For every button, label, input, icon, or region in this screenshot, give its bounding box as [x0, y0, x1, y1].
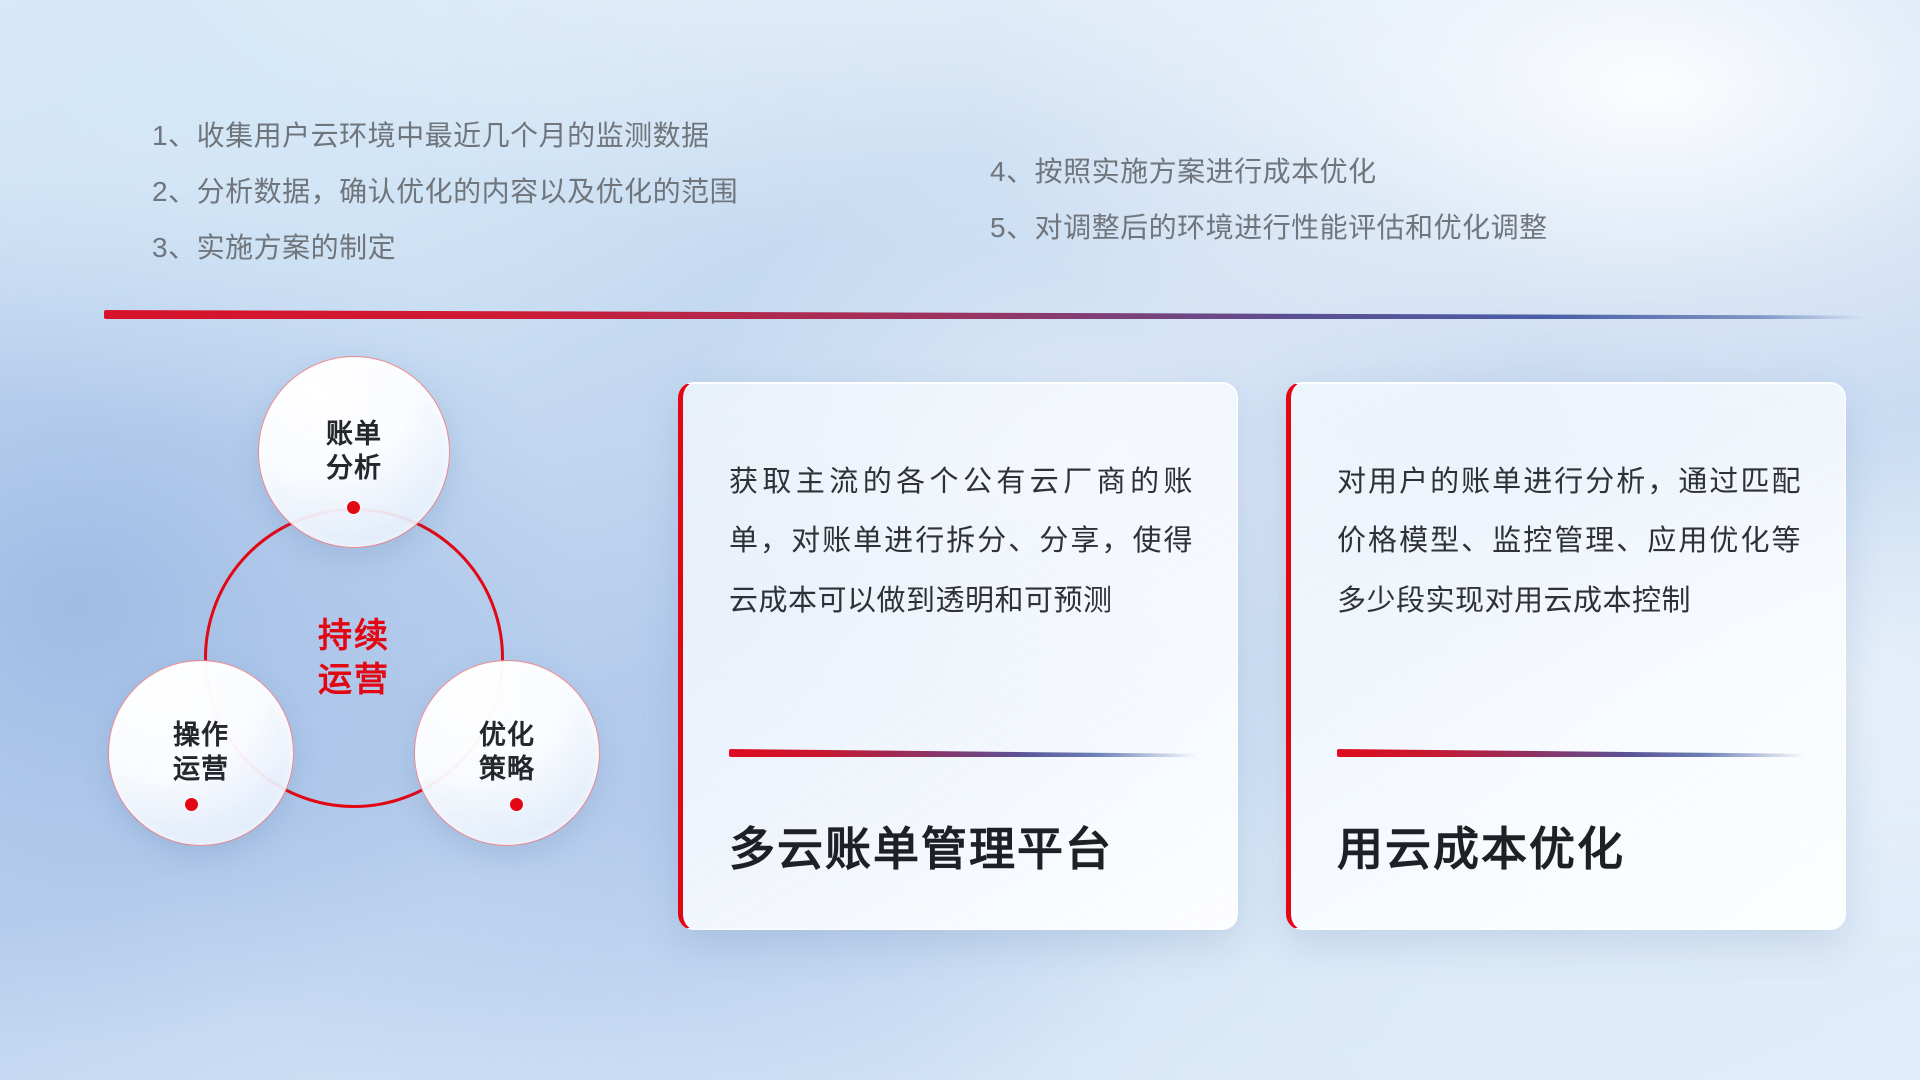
steps-list-left: 1、收集用户云环境中最近几个月的监测数据 2、分析数据，确认优化的内容以及优化的…: [152, 122, 738, 290]
steps-list-right: 4、按照实施方案进行成本优化 5、对调整后的环境进行性能评估和优化调整: [990, 158, 1548, 270]
continuous-operations-diagram: 持续 运营 账单 分析 操作 运营 优化 策略: [96, 348, 656, 948]
center-label-line-1: 持续: [318, 614, 390, 658]
node-dot-right-icon: [510, 798, 523, 811]
card-1-accent-rule: [729, 749, 1197, 757]
slide-canvas: 1、收集用户云环境中最近几个月的监测数据 2、分析数据，确认优化的内容以及优化的…: [0, 0, 1920, 1080]
card-2-title: 用云成本优化: [1337, 822, 1625, 877]
card-multi-cloud-billing-platform[interactable]: 获取主流的各个公有云厂商的账单，对账单进行拆分、分享，使得云成本可以做到透明和可…: [678, 382, 1238, 930]
step-item-3: 3、实施方案的制定: [152, 234, 738, 262]
section-divider: [104, 310, 1864, 319]
card-cloud-cost-optimization[interactable]: 对用户的账单进行分析，通过匹配价格模型、监控管理、应用优化等多少段实现对用云成本…: [1286, 382, 1846, 930]
card-1-title: 多云账单管理平台: [729, 822, 1113, 877]
node-dot-left-icon: [185, 798, 198, 811]
center-label-line-2: 运营: [318, 658, 390, 702]
step-item-2: 2、分析数据，确认优化的内容以及优化的范围: [152, 178, 738, 206]
card-2-body: 对用户的账单进行分析，通过匹配价格模型、监控管理、应用优化等多少段实现对用云成本…: [1337, 453, 1801, 631]
bubble-optimization-line-2: 策略: [479, 753, 535, 787]
card-2-accent-rule: [1337, 749, 1805, 757]
bubble-operations-line-2: 运营: [173, 753, 229, 787]
bubble-bill-analysis-line-1: 账单: [326, 418, 382, 452]
bubble-operations-line-1: 操作: [173, 719, 229, 753]
bubble-bill-analysis-line-2: 分析: [326, 452, 382, 486]
node-dot-top-icon: [347, 501, 360, 514]
step-item-5: 5、对调整后的环境进行性能评估和优化调整: [990, 214, 1548, 242]
step-item-1: 1、收集用户云环境中最近几个月的监测数据: [152, 122, 738, 150]
divider-bar: [104, 310, 1864, 319]
step-item-4: 4、按照实施方案进行成本优化: [990, 158, 1548, 186]
card-1-body: 获取主流的各个公有云厂商的账单，对账单进行拆分、分享，使得云成本可以做到透明和可…: [729, 453, 1193, 631]
bubble-bill-analysis[interactable]: 账单 分析: [258, 356, 450, 548]
bubble-optimization-strategy[interactable]: 优化 策略: [414, 660, 600, 846]
bubble-operations[interactable]: 操作 运营: [108, 660, 294, 846]
bubble-optimization-line-1: 优化: [479, 719, 535, 753]
